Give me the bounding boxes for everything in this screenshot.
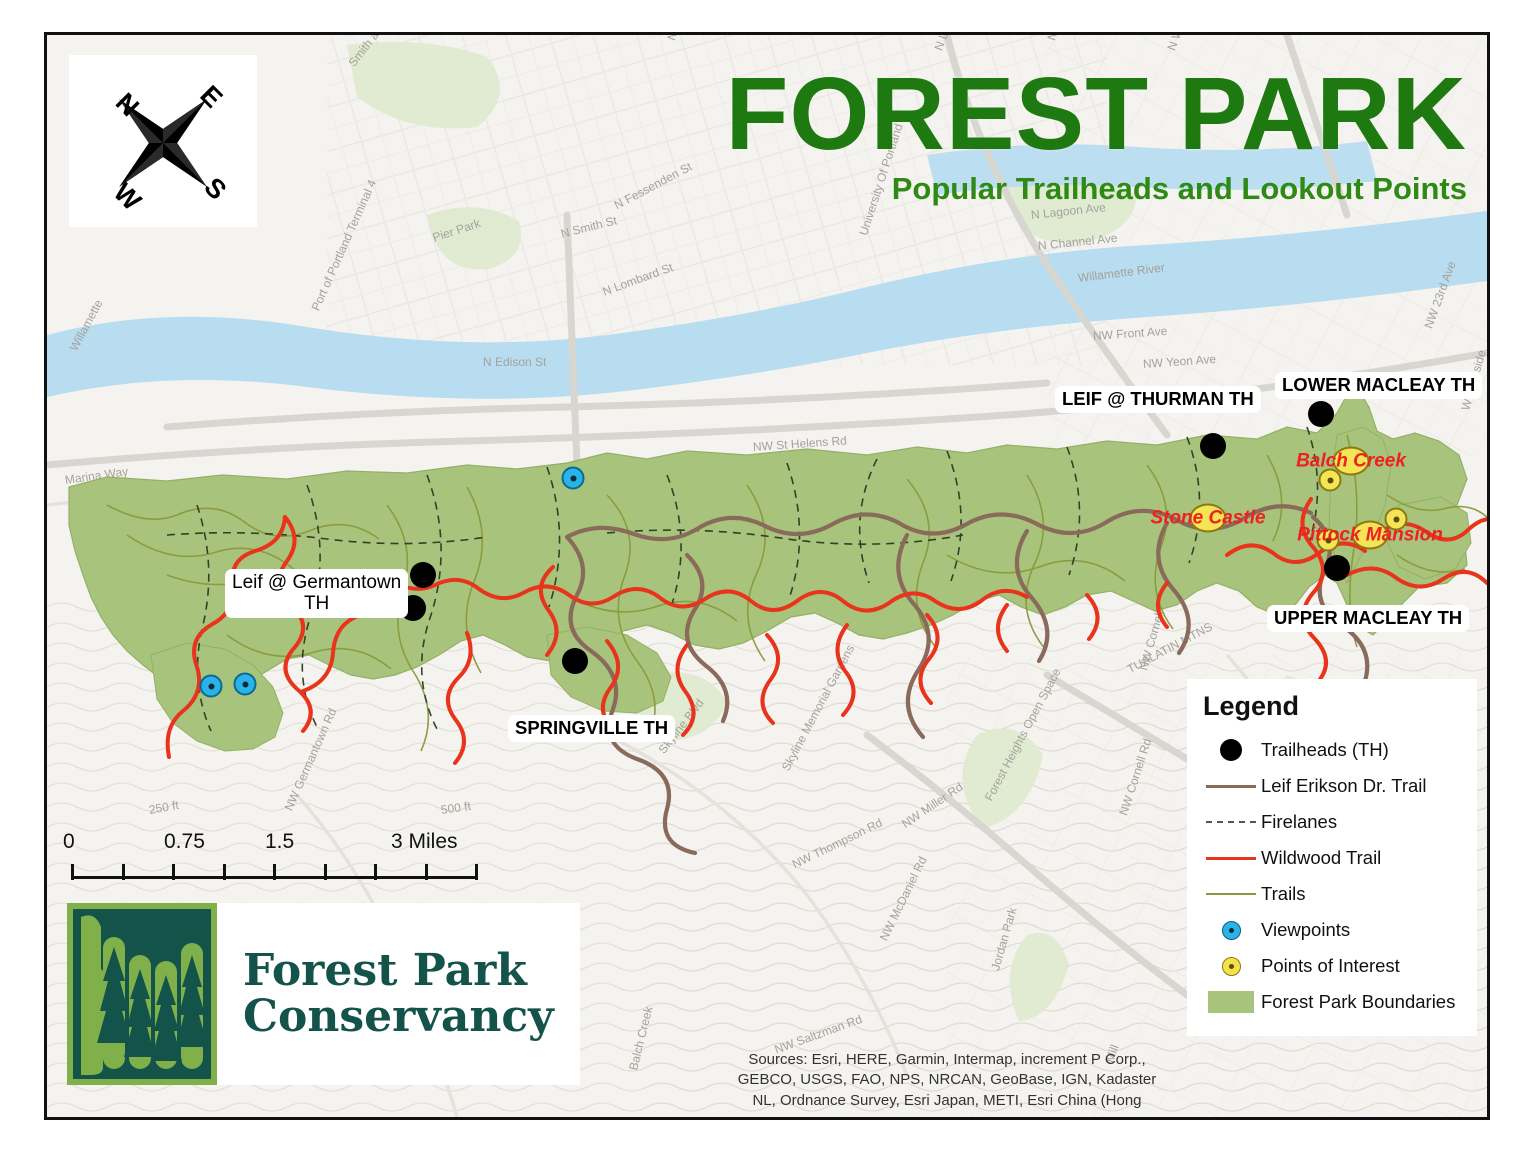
scale-tick <box>425 864 428 880</box>
logo-line-2: Conservancy <box>243 994 580 1040</box>
map-poster: WillametteWillamette RiverN Smith StN Lo… <box>0 0 1536 1152</box>
legend-key <box>1201 957 1261 976</box>
page-subtitle: Popular Trailheads and Lookout Points <box>517 171 1467 207</box>
legend-item-poi-dot[interactable]: Points of Interest <box>1201 948 1463 984</box>
compass-rose-icon: N E S W <box>69 55 257 227</box>
scale-tick <box>273 864 276 880</box>
scale-label: 1.5 <box>265 830 294 854</box>
logo-wordmark: Forest Park Conservancy <box>217 903 580 1085</box>
legend-key <box>1201 893 1261 895</box>
viewpoint-center-dot <box>242 681 248 687</box>
title-block: FOREST PARK Popular Trailheads and Looko… <box>517 65 1467 207</box>
trailhead-marker[interactable] <box>1324 555 1350 581</box>
poi-label: Balch Creek <box>1333 447 1370 476</box>
scale-bar-labels: 00.751.53 Miles <box>65 830 535 856</box>
page-title: FOREST PARK <box>517 65 1467 163</box>
legend-item-label: Leif Erikson Dr. Trail <box>1261 775 1427 797</box>
viewpoint-marker[interactable] <box>200 675 223 698</box>
legend-item-olive-line[interactable]: Trails <box>1201 876 1463 912</box>
scale-tick <box>71 864 74 880</box>
scale-label: 0.75 <box>164 830 205 854</box>
legend-item-park-polygon[interactable]: Forest Park Boundaries <box>1201 984 1463 1020</box>
trailhead-marker[interactable] <box>562 648 588 674</box>
legend-firelane-line-icon <box>1206 821 1256 823</box>
legend-item-viewpoint-dot[interactable]: Viewpoints <box>1201 912 1463 948</box>
trailhead-marker[interactable] <box>410 562 436 588</box>
compass-rose: N E S W <box>69 55 257 227</box>
legend-key <box>1201 857 1261 860</box>
trailhead-label: LOWER MACLEAY TH <box>1275 372 1482 399</box>
trailhead-marker[interactable] <box>1200 433 1226 459</box>
legend-item-label: Trails <box>1261 883 1306 905</box>
compass-south-label: S <box>198 172 232 206</box>
legend-item-label: Points of Interest <box>1261 955 1400 977</box>
viewpoint-marker[interactable] <box>234 673 257 696</box>
legend-trails-line-icon <box>1206 893 1256 895</box>
scale-tick <box>324 864 327 880</box>
logo-mark-icon <box>67 903 217 1085</box>
scale-tick <box>223 864 226 880</box>
trailhead-marker[interactable] <box>1308 401 1334 427</box>
legend-viewpoint-icon <box>1222 921 1241 940</box>
legend-item-brown-line[interactable]: Leif Erikson Dr. Trail <box>1201 768 1463 804</box>
scale-bar-line <box>65 858 535 880</box>
hand-trees-icon <box>67 903 217 1085</box>
map-legend: Legend Trailheads (TH)Leif Erikson Dr. T… <box>1187 679 1477 1036</box>
trailhead-label: SPRINGVILLE TH <box>508 715 675 742</box>
map-frame[interactable]: WillametteWillamette RiverN Smith StN Lo… <box>44 32 1490 1120</box>
legend-item-red-line[interactable]: Wildwood Trail <box>1201 840 1463 876</box>
legend-key <box>1201 991 1261 1013</box>
scale-label: 0 <box>63 830 75 854</box>
poi-label: Stone Castle <box>1190 504 1227 533</box>
scale-tick <box>374 864 377 880</box>
legend-rows: Trailheads (TH)Leif Erikson Dr. TrailFir… <box>1201 732 1463 1020</box>
viewpoint-center-dot <box>208 683 214 689</box>
legend-item-dashed-line[interactable]: Firelanes <box>1201 804 1463 840</box>
legend-item-label: Forest Park Boundaries <box>1261 991 1455 1013</box>
legend-item-label: Trailheads (TH) <box>1261 739 1389 761</box>
legend-park-polygon-icon <box>1208 991 1254 1013</box>
legend-item-label: Wildwood Trail <box>1261 847 1381 869</box>
trailhead-label: LEIF @ THURMAN TH <box>1055 386 1261 413</box>
scale-tick <box>475 864 478 880</box>
poi-label: Pittock Mansion <box>1352 521 1389 550</box>
legend-item-label: Firelanes <box>1261 811 1337 833</box>
legend-trailhead-icon <box>1220 739 1242 761</box>
logo-line-1: Forest Park <box>243 948 580 994</box>
viewpoint-marker[interactable] <box>562 467 585 490</box>
legend-leif-line-icon <box>1206 785 1256 788</box>
legend-item-trailhead-dot[interactable]: Trailheads (TH) <box>1201 732 1463 768</box>
legend-key <box>1201 921 1261 940</box>
scale-tick <box>122 864 125 880</box>
legend-item-label: Viewpoints <box>1261 919 1350 941</box>
scale-label: 3 Miles <box>391 830 458 854</box>
scale-tick <box>172 864 175 880</box>
legend-poi-icon <box>1222 957 1241 976</box>
legend-wildwood-line-icon <box>1206 857 1256 860</box>
trailhead-label: Leif @ Germantown TH <box>225 569 408 618</box>
compass-west-label: W <box>108 177 148 217</box>
legend-key <box>1201 785 1261 788</box>
conservancy-logo: Forest Park Conservancy <box>67 903 580 1085</box>
poi-center-dot <box>1393 516 1399 522</box>
map-sources-attribution: Sources: Esri, HERE, Garmin, Intermap, i… <box>737 1050 1157 1111</box>
legend-key <box>1201 739 1261 761</box>
legend-heading: Legend <box>1203 691 1463 722</box>
trailhead-label: UPPER MACLEAY TH <box>1267 605 1469 632</box>
viewpoint-center-dot <box>570 475 576 481</box>
legend-key <box>1201 821 1261 823</box>
scale-bar: 00.751.53 Miles <box>65 830 535 880</box>
poi-center-dot <box>1327 477 1333 483</box>
